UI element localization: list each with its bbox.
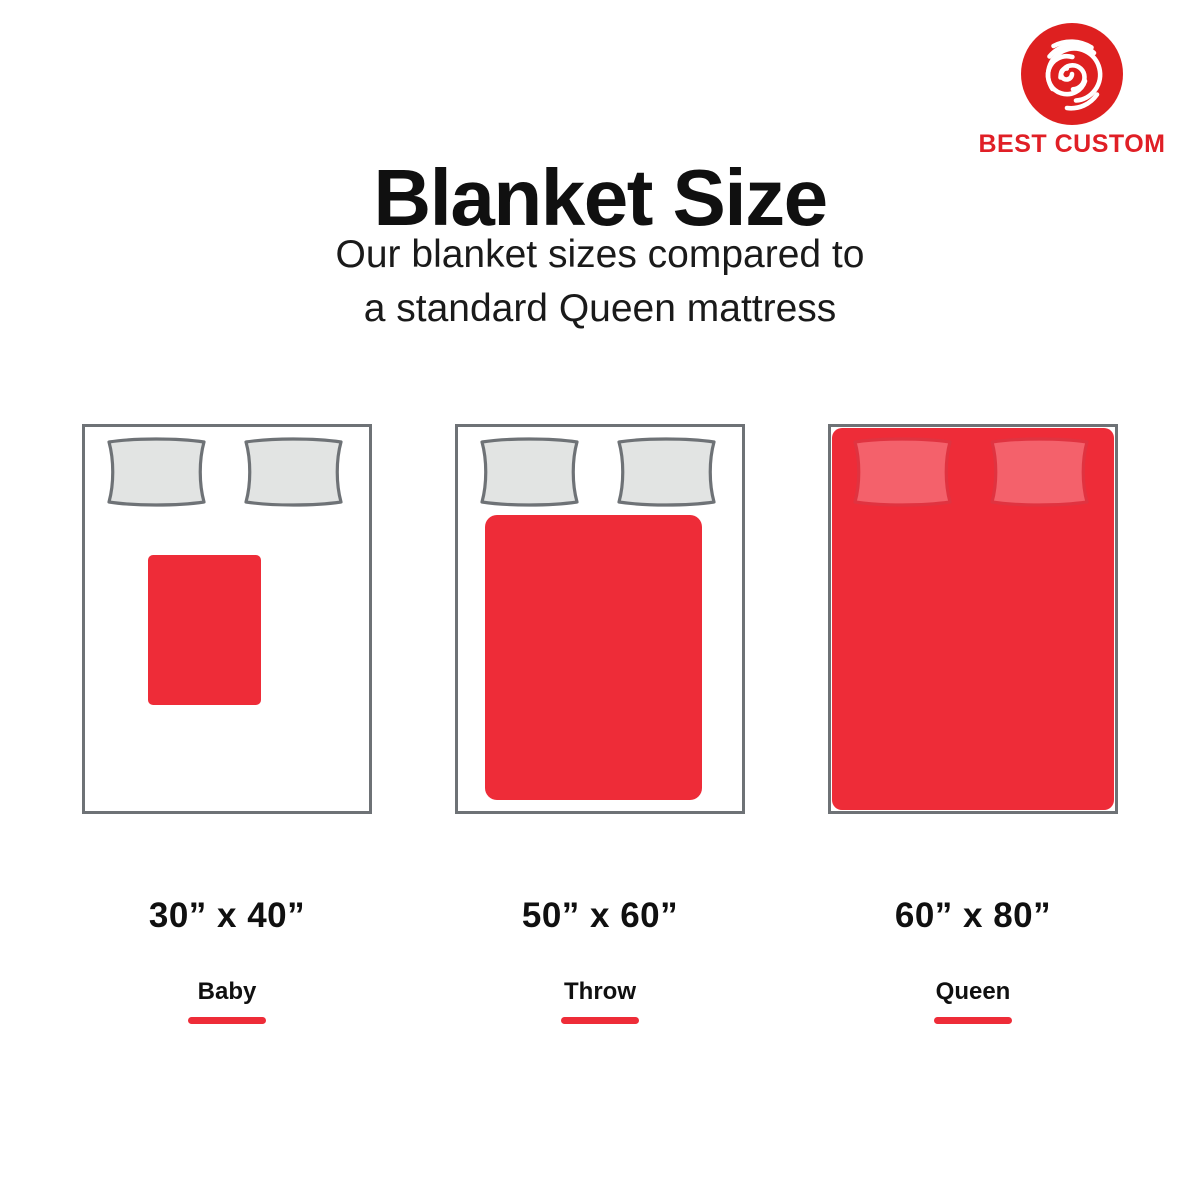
caption-baby: 30” x 40” Baby xyxy=(82,898,372,1024)
caption-dimensions: 60” x 80” xyxy=(828,898,1118,933)
caption-throw: 50” x 60” Throw xyxy=(455,898,745,1024)
pillow-right-icon xyxy=(992,439,1087,505)
caption-underline xyxy=(561,1017,639,1024)
bed-diagram-baby xyxy=(82,424,372,814)
bed-diagram-throw xyxy=(455,424,745,814)
logo-wordmark: BEST CUSTOM xyxy=(972,132,1172,157)
page-title: Blanket Size xyxy=(0,158,1200,238)
caption-dimensions: 50” x 60” xyxy=(455,898,745,933)
caption-size-name: Baby xyxy=(82,980,372,1004)
caption-dimensions: 30” x 40” xyxy=(82,898,372,933)
pillow-right-icon xyxy=(246,439,341,505)
pillow-left-icon xyxy=(855,439,950,505)
bed-illustration xyxy=(82,424,372,814)
bed-illustration xyxy=(455,424,745,814)
caption-size-name: Throw xyxy=(455,980,745,1004)
caption-underline xyxy=(934,1017,1012,1024)
bed-comparison-diagram xyxy=(0,424,1200,824)
caption-queen: 60” x 80” Queen xyxy=(828,898,1118,1024)
page-subtitle-line-2: a standard Queen mattress xyxy=(0,282,1200,336)
blanket-shape xyxy=(148,555,261,705)
page-subtitle-line-1: Our blanket sizes compared to xyxy=(0,228,1200,282)
page-subtitle: Our blanket sizes compared to a standard… xyxy=(0,228,1200,336)
bed-diagram-queen xyxy=(828,424,1118,814)
bed-captions: 30” x 40” Baby 50” x 60” Throw 60” x 80”… xyxy=(0,898,1200,1048)
pillow-right-icon xyxy=(619,439,714,505)
fingerprint-icon xyxy=(1020,22,1124,126)
caption-size-name: Queen xyxy=(828,980,1118,1004)
brand-logo: BEST CUSTOM xyxy=(972,22,1172,157)
blanket-shape xyxy=(485,515,702,800)
caption-underline xyxy=(188,1017,266,1024)
bed-illustration xyxy=(828,424,1118,814)
pillow-left-icon xyxy=(109,439,204,505)
pillow-left-icon xyxy=(482,439,577,505)
